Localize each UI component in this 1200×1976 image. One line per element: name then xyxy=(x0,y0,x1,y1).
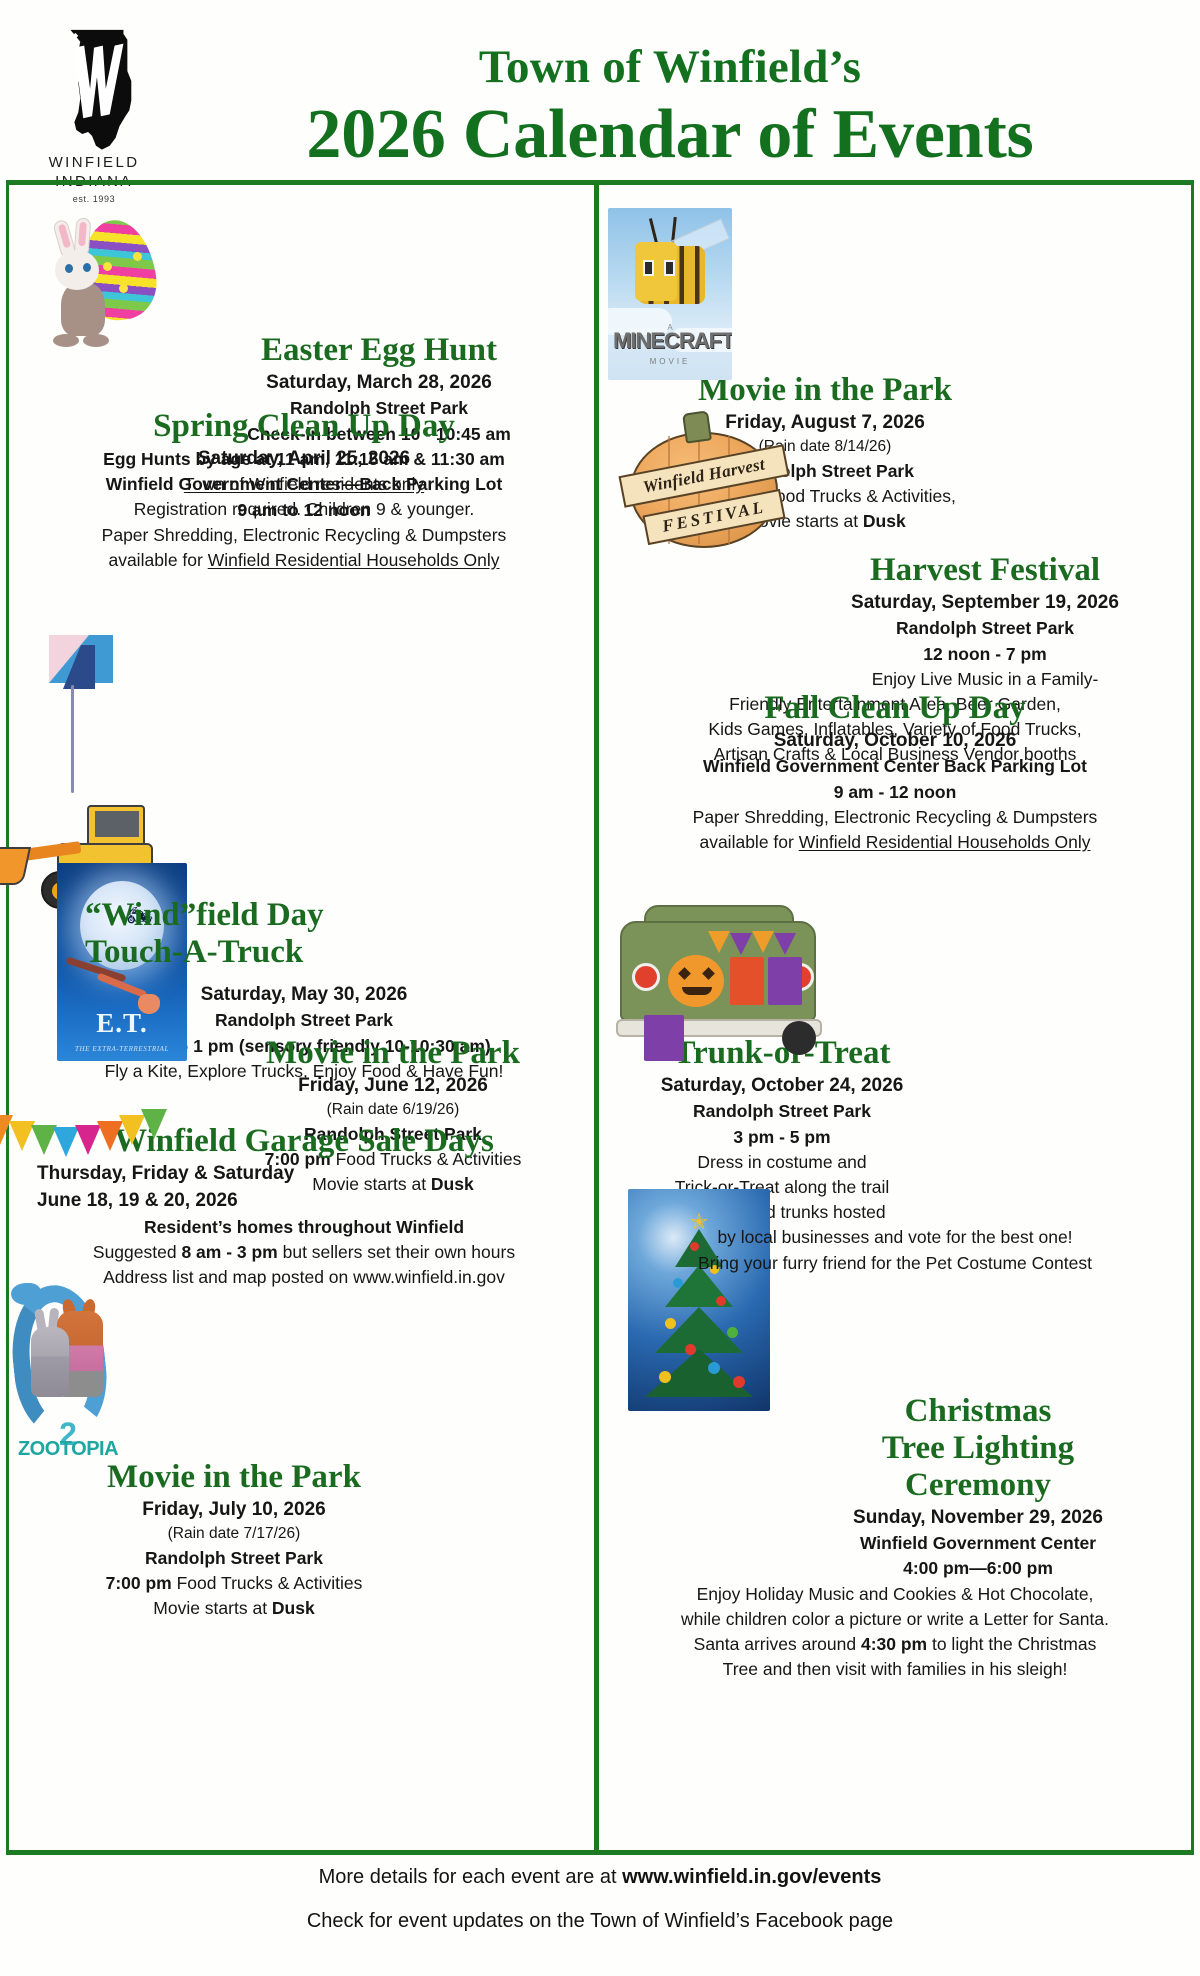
winfield-indiana-logo: WINFIELD INDIANA est. 1993 xyxy=(28,14,160,204)
footer-website-url[interactable]: www.winfield.in.gov/events xyxy=(622,1866,881,1888)
event-detail: Santa arrives around 4:30 pm to light th… xyxy=(618,1632,1172,1657)
logo-name-line1: WINFIELD xyxy=(49,154,140,172)
easter-bunny-egg-illustration-icon xyxy=(37,216,165,344)
event-title-line2: Tree Lighting xyxy=(784,1430,1172,1467)
event-fall-clean-up-day[interactable]: Fall Clean Up Day Saturday, October 10, … xyxy=(618,670,1172,855)
event-time: 4:00 pm—6:00 pm xyxy=(784,1556,1172,1581)
event-detail-suffix: to light the Christmas xyxy=(927,1634,1096,1654)
event-detail: Tree and then visit with families in his… xyxy=(618,1657,1172,1682)
event-title: Fall Clean Up Day xyxy=(618,690,1172,727)
kite-icon xyxy=(41,629,141,809)
event-detail-bold: 4:30 pm xyxy=(861,1634,927,1654)
christmas-tree-illustration-icon: ✭ xyxy=(628,1189,770,1411)
event-detail-prefix: available for xyxy=(108,550,207,570)
calendar-of-events-flyer: WINFIELD INDIANA est. 1993 Town of Winfi… xyxy=(0,0,1200,1976)
event-rain-date: (Rain date 7/17/26) xyxy=(23,1523,445,1545)
event-location: Randolph Street Park xyxy=(798,616,1172,641)
event-spring-clean-up-day[interactable]: Spring Clean Up Day Saturday, April 25, … xyxy=(23,372,585,573)
right-event-column: A MINECRAFT MOVIE Movie in the Park Frid… xyxy=(600,186,1186,1850)
event-time: 9 am - 12 noon xyxy=(618,780,1172,805)
event-movie-in-the-park-august[interactable]: A MINECRAFT MOVIE Movie in the Park Frid… xyxy=(618,186,1172,380)
event-harvest-festival[interactable]: Winfield Harvest FESTIVAL Harvest Festiv… xyxy=(618,380,1172,670)
event-date: Saturday, October 10, 2026 xyxy=(618,727,1172,754)
event-title: Easter Egg Hunt xyxy=(173,332,585,369)
flyer-footer: More details for each event are at www.w… xyxy=(0,1866,1200,1954)
event-time: 12 noon - 7 pm xyxy=(798,642,1172,667)
event-windfield-day-touch-a-truck[interactable]: “Wind”field Day Touch-A-Truck Saturday, … xyxy=(23,573,585,803)
event-date: Sunday, November 29, 2026 xyxy=(784,1504,1172,1531)
event-location: Winfield Government Center—Back Parking … xyxy=(23,472,585,497)
halloween-car-trunk-candy-illustration-icon xyxy=(610,903,836,1053)
event-winfield-garage-sale-days[interactable]: Winfield Garage Sale Days Thursday, Frid… xyxy=(23,1053,585,1251)
event-location: Randolph Street Park xyxy=(23,1546,445,1571)
right-border-rule xyxy=(1191,180,1194,1855)
event-detail-underlined: Winfield Residential Households Only xyxy=(799,832,1091,852)
event-detail-prefix: Movie starts at xyxy=(153,1598,272,1618)
event-easter-egg-hunt[interactable]: Easter Egg Hunt Saturday, March 28, 2026… xyxy=(23,186,585,372)
event-detail: available for Winfield Residential House… xyxy=(618,830,1172,855)
event-location: Winfield Government Center Back Parking … xyxy=(618,754,1172,779)
left-event-column: Easter Egg Hunt Saturday, March 28, 2026… xyxy=(9,186,595,1850)
event-detail: Paper Shredding, Electronic Recycling & … xyxy=(23,523,585,548)
event-detail-prefix: Santa arrives around xyxy=(694,1634,861,1654)
event-detail-prefix: available for xyxy=(699,832,798,852)
event-date: Friday, July 10, 2026 xyxy=(23,1496,445,1523)
event-detail: while children color a picture or write … xyxy=(618,1607,1172,1632)
event-date: Saturday, October 24, 2026 xyxy=(618,1072,946,1099)
event-days: Thursday, Friday & Saturday xyxy=(23,1160,585,1187)
event-location: Resident’s homes throughout Winfield xyxy=(23,1215,585,1240)
event-location: Winfield Government Center xyxy=(784,1531,1172,1556)
event-time-bold: 7:00 pm xyxy=(106,1573,172,1593)
zootopia-2-movie-poster-icon: 2 ZOOTOPIA xyxy=(5,1275,131,1465)
event-detail: Enjoy Holiday Music and Cookies & Hot Ch… xyxy=(618,1582,1172,1607)
event-detail-underlined: Winfield Residential Households Only xyxy=(208,550,500,570)
event-title-line3: Ceremony xyxy=(784,1467,1172,1504)
event-detail: Movie starts at Dusk xyxy=(23,1596,445,1621)
title-line-2: 2026 Calendar of Events xyxy=(160,96,1180,174)
page-title: Town of Winfield’s 2026 Calendar of Even… xyxy=(160,40,1200,175)
footer-website-line: More details for each event are at www.w… xyxy=(0,1866,1200,1888)
event-movie-in-the-park-july[interactable]: 2 ZOOTOPIA Movie in the Park Friday, Jul… xyxy=(23,1251,585,1461)
indiana-state-w-logo-icon xyxy=(42,26,146,152)
event-detail: by local businesses and vote for the bes… xyxy=(618,1225,1172,1250)
title-line-1: Town of Winfield’s xyxy=(160,40,1180,95)
event-title: Harvest Festival xyxy=(798,552,1172,589)
event-trunk-or-treat[interactable]: Trunk-or-Treat Saturday, October 24, 202… xyxy=(618,855,1172,1163)
minecraft-movie-poster-icon: A MINECRAFT MOVIE xyxy=(608,208,732,380)
event-time: 3 pm - 5 pm xyxy=(618,1125,946,1150)
party-bunting-flags-icon xyxy=(0,1107,167,1167)
event-detail-bold: Dusk xyxy=(272,1598,315,1618)
event-title-line2: Touch-A-Truck xyxy=(23,934,585,971)
event-detail: available for Winfield Residential House… xyxy=(23,548,585,573)
event-date: Saturday, April 25, 2026 xyxy=(23,445,585,472)
event-date: June 18, 19 & 20, 2026 xyxy=(23,1187,585,1214)
event-christmas-tree-lighting-ceremony[interactable]: ✭ Christmas xyxy=(618,1163,1172,1453)
event-location: Randolph Street Park xyxy=(618,1099,946,1124)
top-divider-rule xyxy=(6,180,1194,185)
event-detail: Bring your furry friend for the Pet Cost… xyxy=(618,1251,1172,1276)
event-time: 7:00 pm Food Trucks & Activities xyxy=(23,1571,445,1596)
event-title: “Wind”field Day xyxy=(23,897,585,934)
event-title: Christmas xyxy=(784,1393,1172,1430)
event-time-rest: Food Trucks & Activities xyxy=(172,1573,363,1593)
bottom-divider-rule xyxy=(6,1850,1194,1855)
footer-facebook-line: Check for event updates on the Town of W… xyxy=(0,1910,1200,1932)
footer-website-prefix: More details for each event are at xyxy=(319,1866,623,1888)
winfield-harvest-festival-pumpkin-logo-icon: Winfield Harvest FESTIVAL xyxy=(622,410,794,560)
event-date: Saturday, September 19, 2026 xyxy=(798,589,1172,616)
event-time: 9 am to 12 noon xyxy=(23,498,585,523)
event-title: Spring Clean Up Day xyxy=(23,408,585,445)
event-detail: Paper Shredding, Electronic Recycling & … xyxy=(618,805,1172,830)
